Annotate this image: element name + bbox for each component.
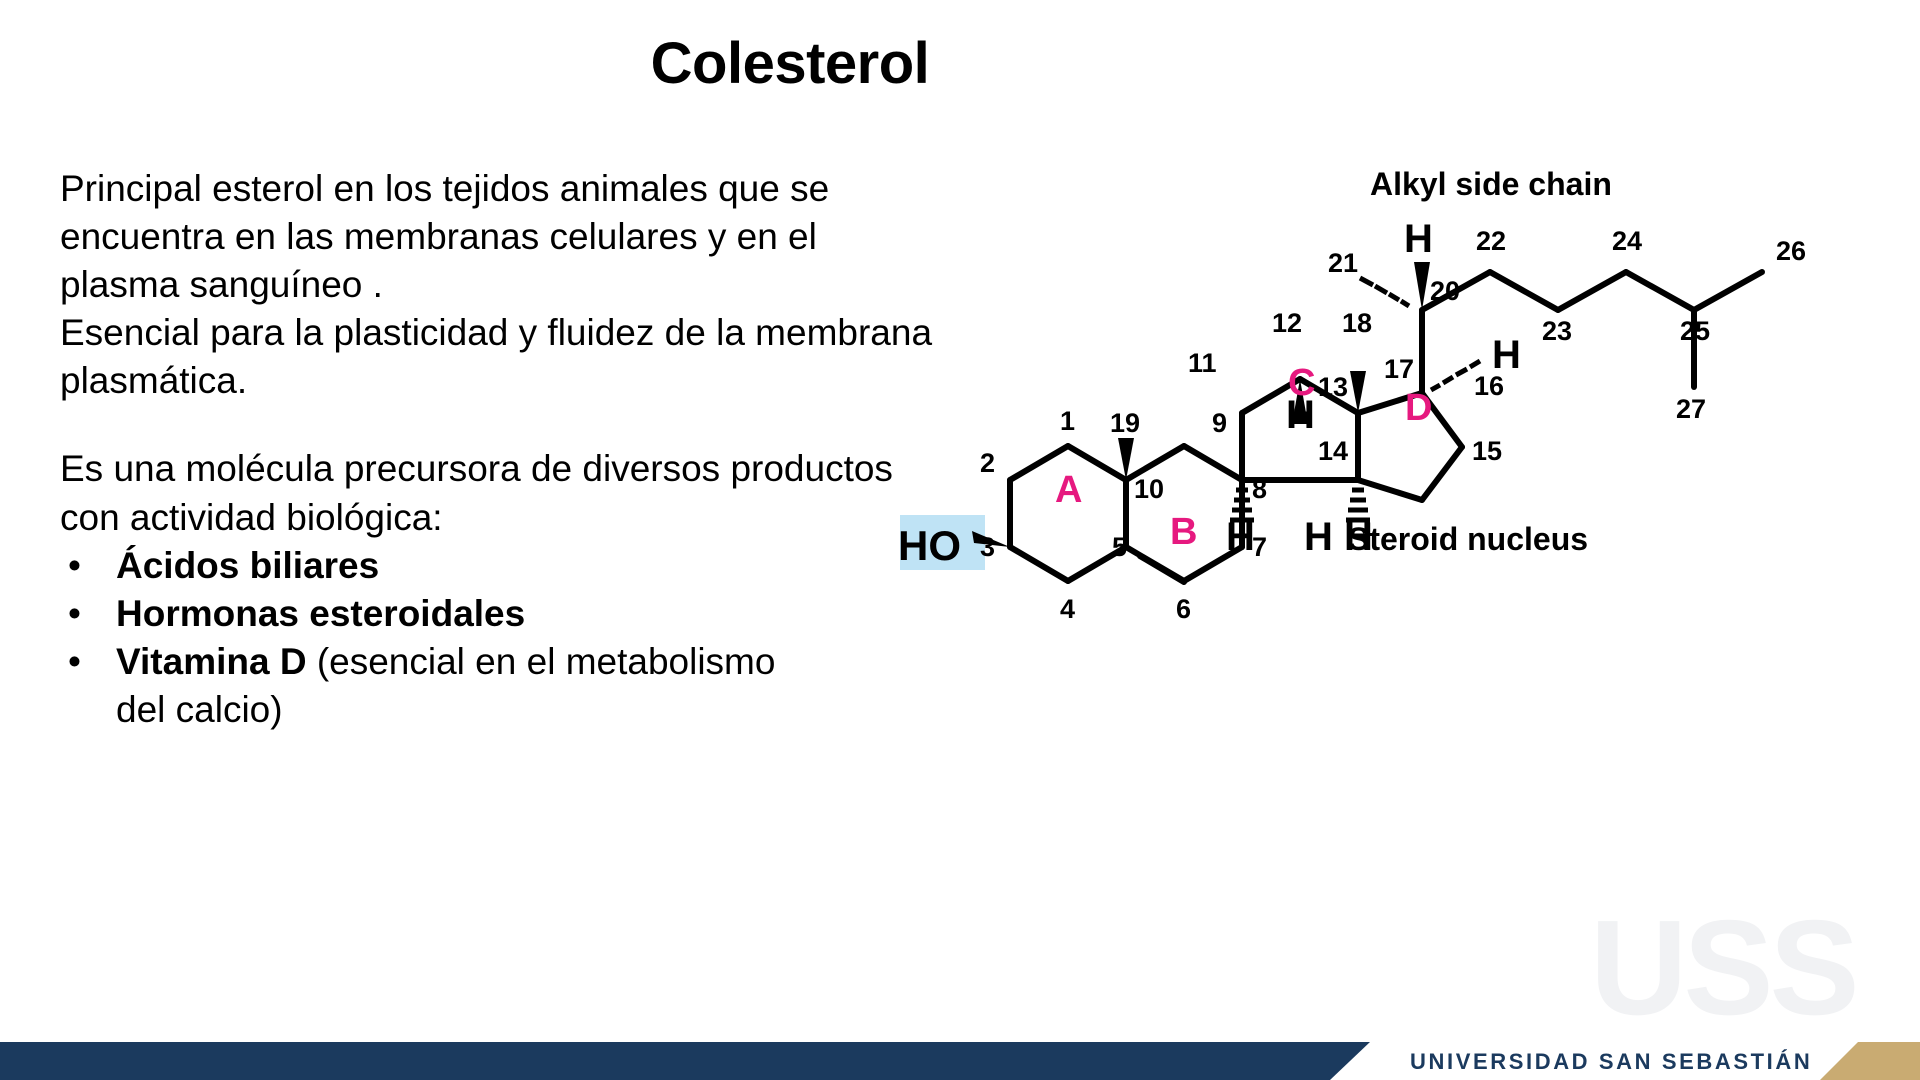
- hydrogen-label-c20: H: [1404, 217, 1433, 261]
- bullet-1-bold: Ácidos biliares: [116, 545, 379, 586]
- bullet-marker-icon: •: [68, 542, 81, 590]
- carbon-number-3: 3: [980, 532, 995, 562]
- list-item: • Vitamina D (esencial en el metabolismo: [60, 638, 940, 686]
- bullet-2-bold: Hormonas esteroidales: [116, 593, 525, 634]
- carbon-number-19: 19: [1110, 408, 1140, 438]
- ring-label-b: B: [1170, 511, 1197, 553]
- steroid-nucleus-label: Steroid nucleus: [1348, 521, 1588, 557]
- c17-hydrogen-hashed-bond: [1431, 361, 1480, 390]
- carbon-number-6: 6: [1176, 594, 1191, 624]
- hydrogen-label-c9: H: [1226, 515, 1255, 559]
- cholesterol-structure-diagram: .bond{stroke:#000;stroke-width:6;fill:no…: [900, 150, 1910, 670]
- carbon-number-13: 13: [1318, 372, 1348, 402]
- page-title: Colesterol: [470, 30, 1110, 97]
- footer-gold-accent: [1820, 1042, 1920, 1080]
- carbon-number-17: 17: [1384, 354, 1414, 384]
- slide-canvas: Colesterol Principal esterol en los teji…: [0, 0, 1920, 1080]
- hydrogen-label-c8: H: [1304, 515, 1333, 559]
- bullet-list: • Ácidos biliares • Hormonas esteroidale…: [60, 542, 940, 686]
- carbon-number-20: 20: [1430, 276, 1460, 306]
- carbon-number-25: 25: [1680, 316, 1710, 346]
- carbon-number-1: 1: [1060, 406, 1075, 436]
- carbon-number-14: 14: [1318, 436, 1348, 466]
- paragraph-1: Principal esterol en los tejidos animale…: [60, 165, 940, 309]
- body-text-block: Principal esterol en los tejidos animale…: [60, 165, 940, 734]
- carbon-number-11: 11: [1188, 348, 1217, 378]
- ring-label-a: A: [1055, 469, 1082, 511]
- hydrogen-label-c17: H: [1492, 333, 1521, 377]
- carbon-number-2: 2: [980, 448, 995, 478]
- carbon-number-24: 24: [1612, 226, 1642, 256]
- paragraph-2: Esencial para la plasticidad y fluidez d…: [60, 309, 940, 405]
- carbon-number-18: 18: [1342, 308, 1372, 338]
- alkyl-side-chain-label: Alkyl side chain: [1370, 166, 1612, 202]
- hydrogen-label-c13: H: [1286, 393, 1315, 437]
- list-item: • Ácidos biliares: [60, 542, 940, 590]
- bullet-continuation: del calcio): [60, 686, 940, 734]
- carbon-number-10: 10: [1134, 474, 1164, 504]
- bullet-marker-icon: •: [68, 590, 81, 638]
- carbon-number-12: 12: [1272, 308, 1302, 338]
- carbon-number-5: 5: [1112, 532, 1127, 562]
- hydroxyl-label: HO: [900, 522, 961, 569]
- ring-label-d: D: [1405, 387, 1432, 429]
- ring-a-bonds: [1010, 446, 1126, 581]
- bullet-marker-icon: •: [68, 638, 81, 686]
- list-item: • Hormonas esteroidales: [60, 590, 940, 638]
- uss-watermark: USS: [1590, 900, 1856, 1035]
- paragraph-spacer: [60, 405, 940, 445]
- carbon-number-22: 22: [1476, 226, 1506, 256]
- bullet-3-bold: Vitamina D: [116, 641, 307, 682]
- carbon-number-15: 15: [1472, 436, 1502, 466]
- side-chain-bonds: [1422, 272, 1762, 393]
- c20-hydrogen-wedge: [1414, 262, 1430, 310]
- carbon-number-21: 21: [1328, 248, 1358, 278]
- carbon-number-27: 27: [1676, 394, 1706, 424]
- carbon-number-8: 8: [1252, 474, 1267, 504]
- paragraph-3: Es una molécula precursora de diversos p…: [60, 445, 940, 541]
- carbon-number-4: 4: [1060, 594, 1075, 624]
- carbon-number-9: 9: [1212, 408, 1227, 438]
- c21-methyl-hashed-bond: [1360, 278, 1409, 306]
- university-name: UNIVERSIDAD SAN SEBASTIÁN: [1410, 1049, 1812, 1075]
- carbon-number-26: 26: [1776, 236, 1806, 266]
- footer-navy-bar: [0, 1042, 1390, 1080]
- carbon-number-23: 23: [1542, 316, 1572, 346]
- bullet-3-rest: (esencial en el metabolismo: [307, 641, 776, 682]
